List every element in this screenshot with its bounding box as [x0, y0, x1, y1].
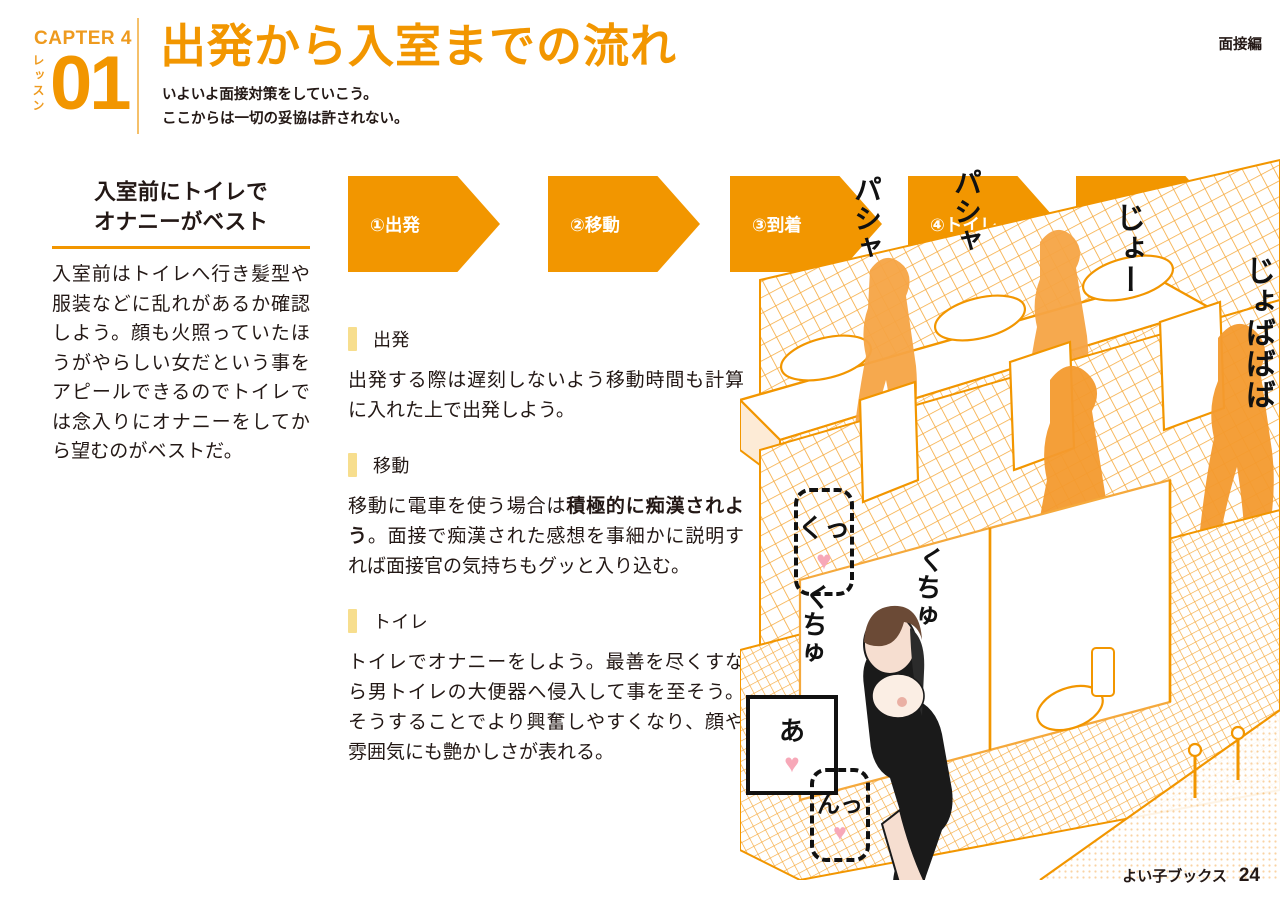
- block-marker-icon: [348, 609, 357, 633]
- lesson-vertical-label: レッスン: [32, 54, 44, 114]
- sidebar-column: 入室前にトイレで オナニーがベスト 入室前はトイレへ行き髪型や服装などに乱れがあ…: [52, 178, 310, 466]
- flow-step-1[interactable]: ①出発: [348, 176, 500, 272]
- page-subtitle: いよいよ面接対策をしていこう。 ここからは一切の妥協は許されない。: [162, 84, 409, 132]
- bubble-text: んっ: [817, 785, 863, 819]
- content-block-text: 出発する際は遅刻しないよう移動時間も計算に入れた上で出発しよう。: [348, 366, 744, 426]
- bubble-text: くっ: [798, 508, 850, 545]
- speech-bubble-n: んっ ♥: [810, 768, 870, 862]
- page-number: 24: [1239, 865, 1260, 887]
- heart-icon: ♥: [816, 545, 831, 576]
- content-block: トイレ トイレでオナニーをしよう。最善を尽くすなら男トイレの大便器へ侵入して事を…: [348, 608, 744, 768]
- content-column: 出発 出発する際は遅刻しないよう移動時間も計算に入れた上で出発しよう。 移動 移…: [348, 326, 744, 794]
- sidebar-heading: 入室前にトイレで オナニーがベスト: [52, 178, 310, 237]
- heart-icon: ♥: [833, 819, 847, 846]
- page-footer: よい子ブックス 24: [1122, 865, 1260, 887]
- sidebar-body-text: 入室前はトイレへ行き髪型や服装などに乱れがあるか確認しよう。顔も火照っていたほう…: [52, 260, 310, 466]
- page-header: CAPTER 4 レッスン 01 出発から入室までの流れ いよいよ面接対策をして…: [0, 0, 1280, 150]
- chapter-badge: CAPTER 4 レッスン 01: [18, 26, 128, 136]
- content-block-header: 移動: [348, 452, 744, 478]
- flow-step-2[interactable]: ②移動: [548, 176, 700, 272]
- text-run: 移動に電車を使う場合は: [348, 496, 566, 517]
- lesson-number: 01: [50, 48, 129, 120]
- content-block: 移動 移動に電車を使う場合は積極的に痴漢されよう。面接で痴漢された感想を事細かに…: [348, 452, 744, 582]
- bubble-text: あ: [779, 711, 805, 748]
- content-block-header: 出発: [348, 326, 744, 352]
- text-run: 出発する際は遅刻しないよう移動時間も計算に入れた上で出発しよう。: [348, 370, 744, 421]
- content-block-title: 移動: [373, 452, 410, 478]
- content-block-header: トイレ: [348, 608, 744, 634]
- block-marker-icon: [348, 453, 357, 477]
- publisher-name: よい子ブックス: [1122, 865, 1227, 886]
- sidebar-rule: [52, 246, 310, 249]
- speech-bubble-ku: くっ ♥: [794, 488, 854, 596]
- block-marker-icon: [348, 327, 357, 351]
- heart-icon: ♥: [784, 748, 799, 779]
- text-run: トイレでオナニーをしよう。最善を尽くすなら男トイレの大便器へ侵入して事を至そう。…: [348, 652, 744, 763]
- section-tag: 面接編: [1219, 33, 1263, 54]
- content-block-title: トイレ: [373, 608, 428, 634]
- content-block-text: 移動に電車を使う場合は積極的に痴漢されよう。面接で痴漢された感想を事細かに説明す…: [348, 492, 744, 582]
- content-block-title: 出発: [373, 326, 410, 352]
- page-title: 出発から入室までの流れ: [160, 22, 677, 70]
- content-block: 出発 出発する際は遅刻しないよう移動時間も計算に入れた上で出発しよう。: [348, 326, 744, 426]
- document-page: CAPTER 4 レッスン 01 出発から入室までの流れ いよいよ面接対策をして…: [0, 0, 1280, 905]
- content-block-text: トイレでオナニーをしよう。最善を尽くすなら男トイレの大便器へ侵入して事を至そう。…: [348, 648, 744, 768]
- illustration: パシャ パシャ じょー じょばばば くちゅ くちゅ くっ ♥ あ ♥ んっ ♥: [740, 150, 1280, 880]
- text-run-tail: 。面接で痴漢された感想を事細かに説明すれば面接官の気持ちもグッと入り込む。: [348, 526, 744, 577]
- header-divider: [137, 18, 139, 134]
